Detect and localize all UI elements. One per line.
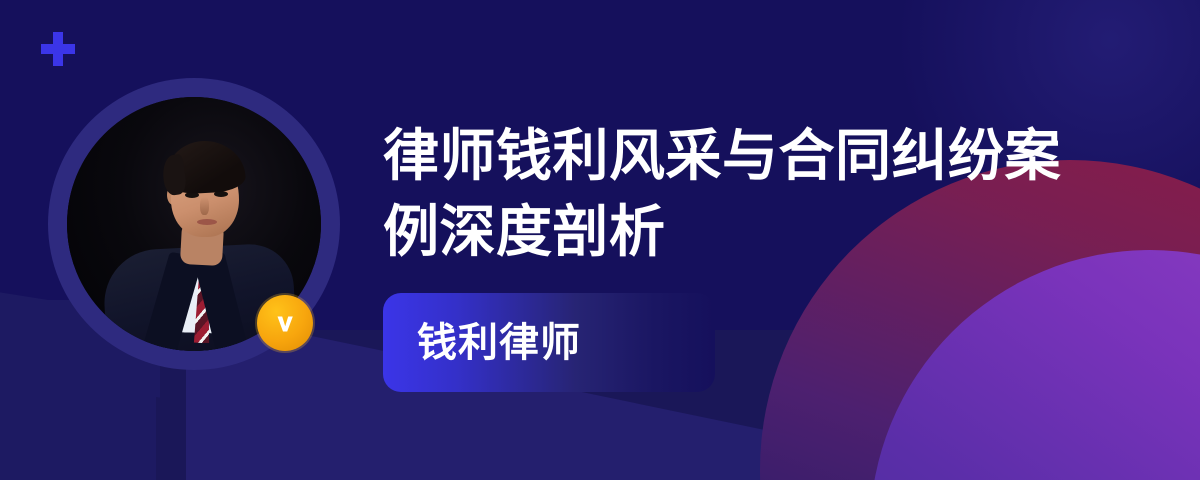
gradient-orb-inner xyxy=(870,250,1200,480)
plus-icon xyxy=(41,32,75,66)
author-name-button[interactable]: 钱利律师 xyxy=(383,293,715,392)
portrait-nose xyxy=(200,197,209,215)
author-name-label: 钱利律师 xyxy=(417,323,581,363)
verified-badge-icon xyxy=(257,295,313,351)
banner-content: 律师钱利风采与合同纠纷案例深度剖析 xyxy=(383,118,1083,270)
avatar[interactable] xyxy=(48,78,340,370)
portrait-mouth xyxy=(197,219,217,225)
banner-title: 律师钱利风采与合同纠纷案例深度剖析 xyxy=(383,118,1083,270)
profile-banner: 律师钱利风采与合同纠纷案例深度剖析 钱利律师 xyxy=(0,0,1200,480)
plus-icon-bar-vertical xyxy=(53,32,63,66)
